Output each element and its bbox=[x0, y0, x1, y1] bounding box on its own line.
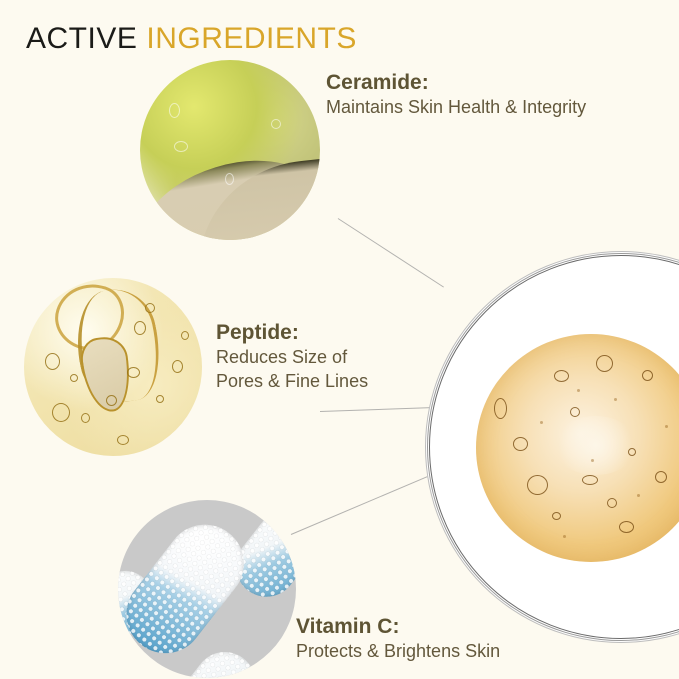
peptide-bubble bbox=[70, 374, 78, 382]
connector-line-peptide bbox=[320, 407, 442, 412]
label-peptide: Peptide: Reduces Size of Pores & Fine Li… bbox=[216, 320, 368, 393]
connector-line-vitaminc bbox=[291, 476, 428, 535]
droplet-bubble bbox=[494, 398, 507, 419]
droplet-bubble bbox=[628, 448, 636, 456]
peptide-bubble bbox=[81, 413, 90, 423]
droplet-bubble bbox=[619, 521, 634, 533]
peptide-bubble bbox=[172, 360, 183, 373]
ceramide-title: Ceramide: bbox=[326, 70, 586, 96]
vitamin-c-title: Vitamin C: bbox=[296, 614, 500, 640]
droplet-bubble bbox=[655, 471, 667, 483]
peptide-bubble bbox=[156, 395, 164, 403]
ceramide-highlight-3 bbox=[225, 173, 234, 185]
ceramide-highlight-2 bbox=[271, 119, 281, 129]
label-vitamin-c: Vitamin C: Protects & Brightens Skin bbox=[296, 614, 500, 664]
droplet-bubble bbox=[554, 370, 569, 382]
title-ingredients: INGREDIENTS bbox=[146, 22, 357, 55]
droplet-bubble bbox=[642, 370, 653, 381]
connector-line-ceramide bbox=[338, 218, 444, 287]
droplet-bubble bbox=[596, 355, 613, 372]
droplet-speck bbox=[614, 398, 617, 401]
peptide-bubble bbox=[117, 435, 129, 445]
droplet-bubble bbox=[527, 475, 548, 495]
droplet-speck bbox=[637, 494, 640, 497]
droplet-bubble bbox=[552, 512, 561, 520]
vitamin-c-capsules-image bbox=[118, 500, 296, 678]
title-active: ACTIVE bbox=[26, 22, 137, 55]
peptide-description-line2: Pores & Fine Lines bbox=[216, 370, 368, 393]
capsule-main bbox=[118, 509, 260, 669]
serum-droplet bbox=[476, 334, 679, 562]
droplet-speck bbox=[563, 535, 566, 538]
peptide-bubble bbox=[52, 403, 70, 422]
droplet-speck bbox=[577, 389, 580, 392]
label-ceramide: Ceramide: Maintains Skin Health & Integr… bbox=[326, 70, 586, 120]
peptide-bubble bbox=[145, 303, 155, 313]
active-ingredients-infographic: ACTIVEINGREDIENTS bbox=[0, 0, 679, 679]
vitamin-c-description: Protects & Brightens Skin bbox=[296, 640, 500, 663]
droplet-speck bbox=[665, 425, 668, 428]
droplet-highlight bbox=[554, 416, 637, 475]
ceramide-highlight-4 bbox=[174, 141, 188, 152]
ceramide-description: Maintains Skin Health & Integrity bbox=[326, 96, 586, 119]
peptide-bubble bbox=[45, 353, 60, 370]
petri-dish bbox=[429, 255, 679, 639]
peptide-serum-image bbox=[24, 278, 202, 456]
droplet-bubble bbox=[607, 498, 617, 508]
peptide-title: Peptide: bbox=[216, 320, 368, 346]
droplet-bubble bbox=[582, 475, 598, 485]
page-title: ACTIVEINGREDIENTS bbox=[26, 22, 357, 56]
droplet-bubble bbox=[570, 407, 580, 417]
droplet-bubble bbox=[513, 437, 528, 451]
peptide-bubble bbox=[181, 331, 189, 340]
ceramide-bubbles-image bbox=[140, 60, 320, 240]
ceramide-highlight-1 bbox=[169, 103, 180, 118]
peptide-description-line1: Reduces Size of bbox=[216, 346, 368, 369]
droplet-speck bbox=[540, 421, 543, 424]
capsule-beads-texture bbox=[118, 509, 260, 669]
